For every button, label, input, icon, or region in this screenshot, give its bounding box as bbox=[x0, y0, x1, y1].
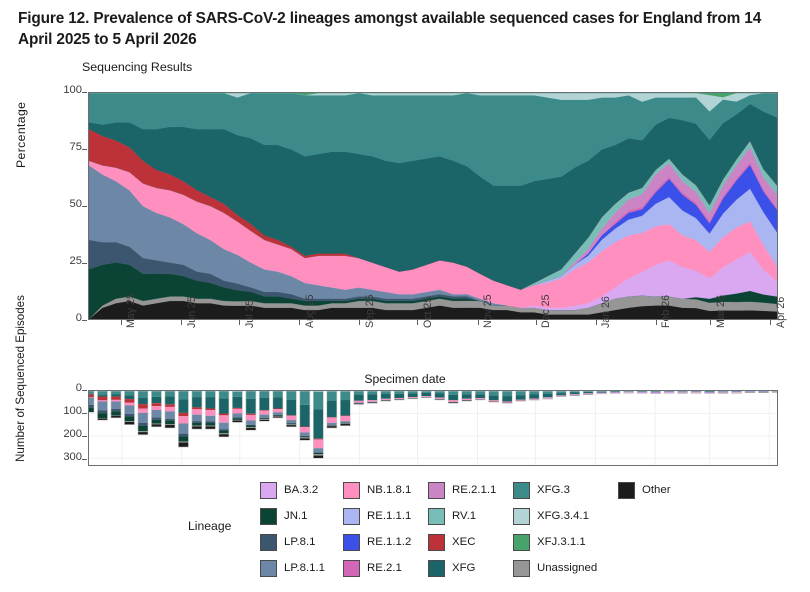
bar-segment bbox=[327, 425, 337, 426]
main-x-tick-label: Nov 25 bbox=[482, 294, 494, 328]
bar-segment bbox=[354, 395, 364, 401]
bar-segment bbox=[286, 400, 296, 415]
legend-item-label: Unassigned bbox=[537, 562, 597, 574]
bar-segment bbox=[273, 397, 283, 408]
bar-segment bbox=[313, 409, 323, 439]
legend-item-label: RE.2.1.1 bbox=[452, 484, 496, 496]
bar-segment bbox=[219, 415, 229, 422]
bar-segment bbox=[178, 436, 188, 441]
legend-swatch-icon bbox=[428, 560, 445, 577]
bar-segment bbox=[489, 400, 499, 401]
bar-segment bbox=[300, 405, 310, 427]
bar-segment bbox=[340, 391, 350, 400]
bottom-y-tick-label: 0 bbox=[42, 382, 82, 394]
bar-segment bbox=[313, 453, 323, 454]
bar-segment bbox=[111, 391, 121, 394]
bar-segment bbox=[381, 391, 391, 394]
legend-swatch-icon bbox=[428, 508, 445, 525]
main-x-axis-title: Specimen date bbox=[0, 372, 810, 386]
bar-segment bbox=[597, 392, 607, 393]
bar-segment bbox=[219, 414, 229, 416]
bar-segment bbox=[448, 400, 458, 402]
bar-segment bbox=[246, 399, 256, 414]
bar-segment bbox=[435, 394, 445, 398]
bar-segment bbox=[354, 403, 364, 404]
bar-segment bbox=[246, 391, 256, 399]
bar-segment bbox=[219, 391, 229, 398]
bar-segment bbox=[367, 394, 377, 400]
bar-segment bbox=[124, 395, 134, 399]
bar-segment bbox=[448, 391, 458, 395]
bar-segment bbox=[111, 400, 121, 402]
bar-segment bbox=[178, 413, 188, 416]
legend-item-jn-1[interactable]: JN.1 bbox=[260, 503, 325, 529]
bar-segment bbox=[313, 452, 323, 453]
bar-segment bbox=[151, 420, 161, 424]
bar-segment bbox=[178, 434, 188, 437]
bar-segment bbox=[124, 391, 134, 395]
legend-swatch-icon bbox=[260, 482, 277, 499]
legend-item-label: XFG bbox=[452, 562, 475, 574]
legend-swatch-icon bbox=[618, 482, 635, 499]
chart-subtitle: Sequencing Results bbox=[82, 60, 192, 74]
bar-segment bbox=[111, 401, 121, 408]
bar-segment bbox=[516, 400, 526, 401]
bar-segment bbox=[367, 400, 377, 401]
legend-column: RE.2.1.1RV.1XECXFG bbox=[428, 477, 496, 581]
bar-segment bbox=[178, 416, 188, 423]
bar-segment bbox=[286, 416, 296, 420]
bar-segment bbox=[529, 394, 539, 398]
bar-segment bbox=[273, 416, 283, 417]
bar-segment bbox=[448, 395, 458, 401]
bar-segment bbox=[327, 418, 337, 423]
bar-segment bbox=[583, 394, 593, 395]
bar-segment bbox=[178, 399, 188, 412]
bar-segment bbox=[273, 391, 283, 397]
bar-segment bbox=[192, 407, 202, 409]
bar-segment bbox=[259, 391, 269, 398]
bar-segment bbox=[354, 401, 364, 403]
bar-segment bbox=[232, 418, 242, 420]
bar-segment bbox=[178, 424, 188, 434]
bottom-y-tick-label: 300 bbox=[42, 451, 82, 463]
legend-item-label: NB.1.8.1 bbox=[367, 484, 411, 496]
legend-item-nb-1-8-1[interactable]: NB.1.8.1 bbox=[343, 477, 411, 503]
bar-segment bbox=[138, 426, 148, 431]
bar-segment bbox=[89, 391, 94, 394]
legend-item-label: XFG.3.4.1 bbox=[537, 510, 589, 522]
main-x-tick-label: Apr 26 bbox=[775, 297, 787, 328]
bottom-y-tick-mark bbox=[82, 459, 87, 460]
bar-segment bbox=[165, 404, 175, 407]
legend-item-xfg-3-4-1[interactable]: XFG.3.4.1 bbox=[513, 503, 597, 529]
bar-segment bbox=[138, 404, 148, 408]
bottom-y-tick-label: 200 bbox=[42, 428, 82, 440]
bar-segment bbox=[259, 418, 269, 419]
main-y-tick-mark bbox=[82, 206, 87, 207]
bar-segment bbox=[502, 396, 512, 401]
bar-segment bbox=[219, 434, 229, 437]
legend-item-label: XFG.3 bbox=[537, 484, 570, 496]
bar-segment bbox=[178, 441, 188, 442]
main-y-tick-label: 0 bbox=[44, 312, 82, 324]
bar-segment bbox=[543, 391, 553, 394]
bar-segment bbox=[300, 391, 310, 404]
bar-segment bbox=[232, 413, 242, 417]
main-x-tick-mark bbox=[359, 320, 360, 325]
legend: Lineage BA.3.2JN.1LP.8.1LP.8.1.1NB.1.8.1… bbox=[188, 477, 788, 583]
main-x-tick-label: Feb 26 bbox=[660, 295, 672, 328]
bar-segment bbox=[259, 410, 269, 411]
bar-segment bbox=[421, 393, 431, 396]
bar-segment bbox=[286, 424, 296, 425]
main-y-tick-label: 25 bbox=[44, 255, 82, 267]
bar-segment bbox=[327, 423, 337, 425]
legend-item-ba-3-2[interactable]: BA.3.2 bbox=[260, 477, 325, 503]
legend-item-label: LP.8.1 bbox=[284, 536, 315, 548]
bar-segment bbox=[273, 409, 283, 412]
bar-segment bbox=[165, 411, 175, 418]
bar-segment bbox=[192, 391, 202, 397]
bar-segment bbox=[192, 426, 202, 429]
legend-item-re-1-1-2[interactable]: RE.1.1.2 bbox=[343, 529, 411, 555]
bar-segment bbox=[516, 391, 526, 395]
bottom-y-tick-label: 100 bbox=[42, 405, 82, 417]
bar-segment bbox=[89, 408, 94, 413]
bar-segment bbox=[165, 425, 175, 428]
bar-segment bbox=[462, 399, 472, 400]
bar-segment bbox=[232, 397, 242, 408]
bar-segment bbox=[246, 415, 256, 420]
bar-segment bbox=[313, 454, 323, 455]
bar-segment bbox=[89, 398, 94, 405]
bar-segment bbox=[381, 394, 391, 399]
bar-segment bbox=[705, 391, 715, 392]
bar-segment bbox=[556, 393, 566, 395]
legend-swatch-icon bbox=[343, 482, 360, 499]
bar-segment bbox=[489, 391, 499, 395]
bar-segment bbox=[313, 448, 323, 452]
legend-column: NB.1.8.1RE.1.1.1RE.1.1.2RE.2.1 bbox=[343, 477, 411, 581]
bar-segment bbox=[570, 391, 580, 392]
bar-segment bbox=[273, 415, 283, 416]
bar-segment bbox=[192, 397, 202, 407]
bar-segment bbox=[151, 397, 161, 403]
bar-segment bbox=[475, 391, 485, 394]
bar-segment bbox=[300, 437, 310, 438]
bar-segment bbox=[232, 408, 242, 409]
main-x-tick-mark bbox=[181, 320, 182, 325]
bar-segment bbox=[89, 394, 94, 397]
bar-segment bbox=[313, 456, 323, 459]
bar-segment bbox=[219, 398, 229, 413]
bar-segment bbox=[124, 422, 134, 425]
bar-segment bbox=[421, 391, 431, 393]
bar-segment bbox=[205, 410, 215, 416]
legend-swatch-icon bbox=[513, 482, 530, 499]
bar-segment bbox=[124, 399, 134, 403]
bar-segment bbox=[97, 391, 107, 395]
bar-segment bbox=[246, 428, 256, 430]
legend-item-label: BA.3.2 bbox=[284, 484, 318, 496]
main-x-tick-label: May 25 bbox=[125, 293, 137, 328]
bar-segment bbox=[97, 400, 107, 401]
bar-segment bbox=[219, 433, 229, 434]
legend-item-rv-1[interactable]: RV.1 bbox=[428, 503, 496, 529]
bottom-y-tick-mark bbox=[82, 390, 87, 391]
bar-segment bbox=[124, 421, 134, 422]
legend-item-lp-8-1-1[interactable]: LP.8.1.1 bbox=[260, 555, 325, 581]
bar-segment bbox=[367, 391, 377, 394]
bar-segment bbox=[165, 419, 175, 421]
bar-segment bbox=[286, 391, 296, 400]
bar-segment bbox=[138, 408, 148, 412]
main-x-tick-label: Aug 25 bbox=[304, 294, 316, 328]
bar-segment bbox=[502, 391, 512, 396]
bar-segment bbox=[300, 436, 310, 437]
main-y-tick-mark bbox=[82, 92, 87, 93]
bar-segment bbox=[205, 397, 215, 408]
legend-item-label: RV.1 bbox=[452, 510, 476, 522]
bar-segment bbox=[165, 421, 175, 425]
bar-segment bbox=[151, 406, 161, 410]
bar-segment bbox=[111, 411, 121, 415]
main-x-tick-label: Jul 25 bbox=[244, 300, 256, 328]
main-y-tick-label: 50 bbox=[44, 198, 82, 210]
bar-segment bbox=[475, 398, 485, 399]
legend-swatch-icon bbox=[343, 534, 360, 551]
page-title: Figure 12. Prevalence of SARS-CoV-2 line… bbox=[18, 8, 796, 50]
bar-segment bbox=[543, 398, 553, 399]
legend-swatch-icon bbox=[260, 534, 277, 551]
main-y-tick-label: 100 bbox=[44, 84, 82, 96]
legend-item-label: RE.1.1.1 bbox=[367, 510, 411, 522]
bar-segment bbox=[246, 414, 256, 415]
main-x-tick-label: Sep 25 bbox=[364, 294, 376, 328]
bar-segment bbox=[246, 427, 256, 428]
bar-segment bbox=[124, 405, 134, 413]
bar-segment bbox=[286, 420, 296, 423]
main-y-tick-mark bbox=[82, 263, 87, 264]
bottom-y-axis-labels: 0100200300 bbox=[40, 386, 82, 472]
legend-swatch-icon bbox=[513, 534, 530, 551]
legend-item-lp-8-1[interactable]: LP.8.1 bbox=[260, 529, 325, 555]
bar-segment bbox=[273, 408, 283, 409]
bar-segment bbox=[273, 412, 283, 414]
main-y-tick-label: 75 bbox=[44, 141, 82, 153]
bar-segment bbox=[583, 392, 593, 393]
main-x-tick-mark bbox=[536, 320, 537, 325]
bar-segment bbox=[435, 398, 445, 399]
bar-segment bbox=[165, 397, 175, 405]
legend-swatch-icon bbox=[513, 560, 530, 577]
bar-segment bbox=[151, 391, 161, 397]
bar-segment bbox=[232, 417, 242, 418]
main-y-axis-title: Percentage bbox=[14, 102, 28, 168]
bar-segment bbox=[597, 393, 607, 394]
bar-segment bbox=[151, 424, 161, 425]
bar-segment bbox=[502, 401, 512, 402]
bar-segment bbox=[138, 391, 148, 398]
legend-item-label: RE.2.1 bbox=[367, 562, 402, 574]
bar-segment bbox=[205, 391, 215, 397]
bar-segment bbox=[340, 423, 350, 424]
bar-segment bbox=[111, 397, 121, 400]
legend-swatch-icon bbox=[343, 508, 360, 525]
legend-swatch-icon bbox=[428, 482, 445, 499]
bar-segment bbox=[232, 420, 242, 421]
bar-segment bbox=[408, 393, 418, 397]
bar-segment bbox=[327, 401, 337, 418]
main-x-tick-mark bbox=[299, 320, 300, 325]
main-x-tick-mark bbox=[239, 320, 240, 325]
bar-chart-svg bbox=[89, 391, 777, 465]
bar-segment bbox=[300, 432, 310, 435]
bar-segment bbox=[151, 410, 161, 418]
bar-segment bbox=[259, 415, 269, 418]
legend-item-label: RE.1.1.2 bbox=[367, 536, 411, 548]
bar-segment bbox=[205, 423, 215, 426]
bar-segment bbox=[89, 394, 94, 395]
bar-segment bbox=[529, 391, 539, 394]
legend-column: XFG.3XFG.3.4.1XFJ.3.1.1Unassigned bbox=[513, 477, 597, 581]
bar-segment bbox=[259, 418, 269, 419]
bar-segment bbox=[435, 391, 445, 393]
main-x-tick-label: Mar 26 bbox=[715, 295, 727, 328]
main-x-tick-mark bbox=[710, 320, 711, 325]
bar-segment bbox=[111, 394, 121, 396]
bar-segment bbox=[300, 427, 310, 432]
bar-segment bbox=[124, 414, 134, 417]
bar-segment bbox=[138, 432, 148, 435]
legend-title: Lineage bbox=[188, 519, 231, 533]
bar-segment bbox=[232, 409, 242, 414]
bar-segment bbox=[205, 421, 215, 423]
bar-segment bbox=[111, 415, 121, 416]
bar-segment bbox=[165, 407, 175, 411]
bar-segment bbox=[205, 426, 215, 427]
legend-swatch-icon bbox=[260, 508, 277, 525]
legend-column: BA.3.2JN.1LP.8.1LP.8.1.1 bbox=[260, 477, 325, 581]
bar-segment bbox=[219, 431, 229, 434]
bar-segment bbox=[232, 392, 242, 397]
bar-segment bbox=[543, 394, 553, 397]
bar-segment bbox=[273, 415, 283, 416]
bar-segment bbox=[192, 426, 202, 427]
bar-segment bbox=[313, 439, 323, 440]
bar-segment bbox=[286, 423, 296, 424]
main-x-tick-mark bbox=[596, 320, 597, 325]
bar-segment bbox=[192, 421, 202, 423]
bar-segment bbox=[205, 416, 215, 422]
legend-item-label: JN.1 bbox=[284, 510, 307, 522]
legend-column: Other bbox=[618, 477, 671, 503]
bar-segment bbox=[97, 401, 107, 410]
bar-segment bbox=[97, 395, 107, 396]
bottom-y-tick-mark bbox=[82, 436, 87, 437]
main-y-tick-mark bbox=[82, 149, 87, 150]
legend-swatch-icon bbox=[428, 534, 445, 551]
bar-segment bbox=[259, 398, 269, 410]
bar-segment bbox=[205, 409, 215, 411]
bar-segment bbox=[124, 403, 134, 406]
bar-segment bbox=[462, 394, 472, 398]
bar-segment bbox=[300, 438, 310, 440]
bar-segment bbox=[381, 399, 391, 400]
main-x-tick-label: Jan 26 bbox=[600, 296, 612, 328]
bar-segment bbox=[165, 391, 175, 397]
legend-swatch-icon bbox=[260, 560, 277, 577]
main-x-tick-label: Jun 25 bbox=[186, 296, 198, 328]
bar-segment bbox=[165, 424, 175, 425]
bar-segment bbox=[651, 391, 661, 392]
main-x-tick-label: Oct 25 bbox=[422, 297, 434, 328]
legend-item-label: XFJ.3.1.1 bbox=[537, 536, 586, 548]
bottom-y-axis-title: Number of Sequenced Episodes bbox=[14, 376, 28, 462]
legend-swatch-icon bbox=[513, 508, 530, 525]
bar-segment bbox=[138, 431, 148, 432]
legend-item-re-1-1-1[interactable]: RE.1.1.1 bbox=[343, 503, 411, 529]
legend-item-other[interactable]: Other bbox=[618, 477, 671, 503]
legend-item-xec[interactable]: XEC bbox=[428, 529, 496, 555]
bar-segment bbox=[138, 423, 148, 426]
bar-segment bbox=[138, 398, 148, 404]
main-x-tick-mark bbox=[770, 320, 771, 325]
bar-segment bbox=[246, 426, 256, 428]
bar-segment bbox=[570, 392, 580, 394]
bar-segment bbox=[151, 403, 161, 406]
bar-segment bbox=[408, 391, 418, 393]
bar-segment bbox=[205, 426, 215, 429]
main-x-tick-mark bbox=[656, 320, 657, 325]
bar-segment bbox=[89, 405, 94, 408]
bar-segment bbox=[151, 418, 161, 420]
bar-segment bbox=[97, 413, 107, 418]
legend-item-xfj-3-1-1[interactable]: XFJ.3.1.1 bbox=[513, 529, 597, 555]
bar-segment bbox=[340, 400, 350, 416]
main-y-tick-mark bbox=[82, 320, 87, 321]
bar-segment bbox=[516, 395, 526, 400]
bar-segment bbox=[246, 420, 256, 424]
bar-segment bbox=[408, 397, 418, 398]
bar-segment bbox=[97, 410, 107, 413]
bar-segment bbox=[192, 409, 202, 414]
bar-segment bbox=[286, 424, 296, 425]
bar-segment bbox=[259, 419, 269, 420]
legend-item-re-2-1[interactable]: RE.2.1 bbox=[343, 555, 411, 581]
bar-segment bbox=[475, 394, 485, 398]
legend-item-xfg-3[interactable]: XFG.3 bbox=[513, 477, 597, 503]
bar-segment bbox=[111, 409, 121, 411]
bar-segment bbox=[340, 416, 350, 421]
bar-segment bbox=[327, 391, 337, 400]
legend-item-xfg[interactable]: XFG bbox=[428, 555, 496, 581]
legend-item-re-2-1-1[interactable]: RE.2.1.1 bbox=[428, 477, 496, 503]
bar-segment bbox=[192, 423, 202, 426]
bar-segment bbox=[313, 392, 323, 409]
legend-item-label: LP.8.1.1 bbox=[284, 562, 325, 574]
legend-item-label: Other bbox=[642, 484, 671, 496]
bar-segment bbox=[178, 391, 188, 399]
main-x-tick-mark bbox=[417, 320, 418, 325]
bar-segment bbox=[394, 391, 404, 394]
bar-segment bbox=[462, 391, 472, 394]
bar-segment bbox=[340, 421, 350, 422]
bar-segment bbox=[219, 423, 229, 429]
bar-segment bbox=[246, 425, 256, 426]
legend-item-unassigned[interactable]: Unassigned bbox=[513, 555, 597, 581]
